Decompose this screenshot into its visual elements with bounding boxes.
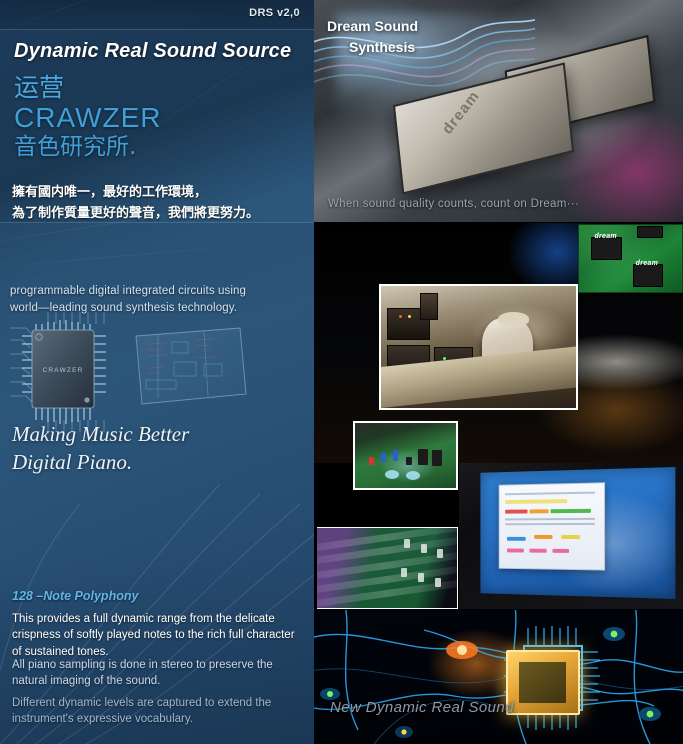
studio-engineer-cap [498,312,529,325]
window-bar-1 [505,499,567,504]
tagline-line-2: Digital Piano. [12,448,302,476]
right-collage: dream Dream Sound Synthesis When sound q… [314,0,683,744]
window-row-3 [505,523,595,525]
programmable-line-1: programmable digital integrated circuits… [10,283,300,300]
hero-label: Dream Sound Synthesis [327,16,507,58]
window-bar-10 [552,549,569,553]
mixer-key-1 [404,539,410,548]
hero-caption: When sound quality counts, count on Drea… [328,198,579,210]
photo-mixer-console [317,527,458,609]
page-title: Dynamic Real Sound Source [14,40,291,63]
window-bar-4 [550,509,591,513]
pcb-component-5 [418,449,428,465]
window-bar-7 [561,535,580,539]
section-divider [0,222,314,223]
pcb-component-4 [406,457,412,465]
tagline-line-1: Making Music Better [12,420,302,448]
gold-chip-die [519,662,566,703]
brand-chinese-bottom: 音色研究所. [14,134,162,162]
version-label: DRS v2,0 [249,7,300,19]
window-row-2 [505,518,595,521]
chinese-body-line-1: 擁有國内唯一，最好的工作環境， [12,182,304,203]
window-bar-3 [529,510,548,514]
photo-computer-monitor [459,463,683,609]
pcb-chip-2 [633,264,664,287]
chinese-body: 擁有國内唯一，最好的工作環境， 為了制作質量更好的聲音，我們將更努力。 [12,182,304,225]
photo-neural-network-banner: New Dynamic Real Sound. [314,610,683,744]
window-bar-5 [507,537,525,541]
chip-illustration: CRAWZER [8,310,308,435]
photo-dream-chip-hero: dream Dream Sound Synthesis When sound q… [314,0,683,222]
polyphony-heading: 128 –Note Polyphony [12,589,138,603]
neural-network-graphic [314,610,683,744]
mixer-key-2 [421,544,427,553]
left-panel: DRS v2,0 Dynamic Real Sound Source 运营 CR… [0,0,314,744]
window-bar-9 [529,549,546,553]
polyphony-paragraph-3: Different dynamic levels are captured to… [12,695,300,728]
pcb-chip-3 [637,226,664,238]
mixer-key-3 [437,549,443,558]
window-bar-2 [505,510,527,514]
window-bar-8 [507,549,523,553]
studio-led-1 [399,315,402,318]
window-bar-6 [533,535,552,539]
photo-recording-studio [379,284,578,410]
polyphony-paragraph-1: This provides a full dynamic range from … [12,611,300,660]
mixer-key-4 [401,568,407,577]
pcb-component-2 [381,453,386,462]
pcb-brand-label-1: dream [594,233,617,240]
pcb-component-8 [406,471,420,480]
brand-chinese-top: 运营 [14,74,162,102]
brand-name: CRAWZER [14,102,162,134]
mixer-key-5 [418,573,424,582]
pcb-component-3 [393,450,398,460]
pcb-component-1 [369,457,374,465]
window-row-1 [505,492,595,496]
hero-label-line-1: Dream Sound [327,18,418,34]
banner-caption: New Dynamic Real Sound. [330,699,518,716]
poster-root: DRS v2,0 Dynamic Real Sound Source 运营 CR… [0,0,683,744]
mixer-key-6 [435,578,441,587]
studio-speaker [420,293,438,320]
brand-block: 运营 CRAWZER 音色研究所. [14,74,162,161]
pcb-component-7 [385,470,399,479]
monitor-app-window [498,482,605,571]
polyphony-paragraph-2: All piano sampling is done in stereo to … [12,657,300,690]
hero-label-line-2: Synthesis [327,37,507,58]
tagline: Making Music Better Digital Piano. [12,420,302,477]
chip-label: CRAWZER [42,367,83,374]
monitor-screen [480,467,675,599]
pcb-brand-label-2: dream [636,260,659,267]
pcb-component-6 [432,450,442,466]
photo-pcb-closeup [353,421,458,490]
photo-green-pcb: dream dream [578,224,683,293]
pcb-chip-1 [591,237,622,260]
